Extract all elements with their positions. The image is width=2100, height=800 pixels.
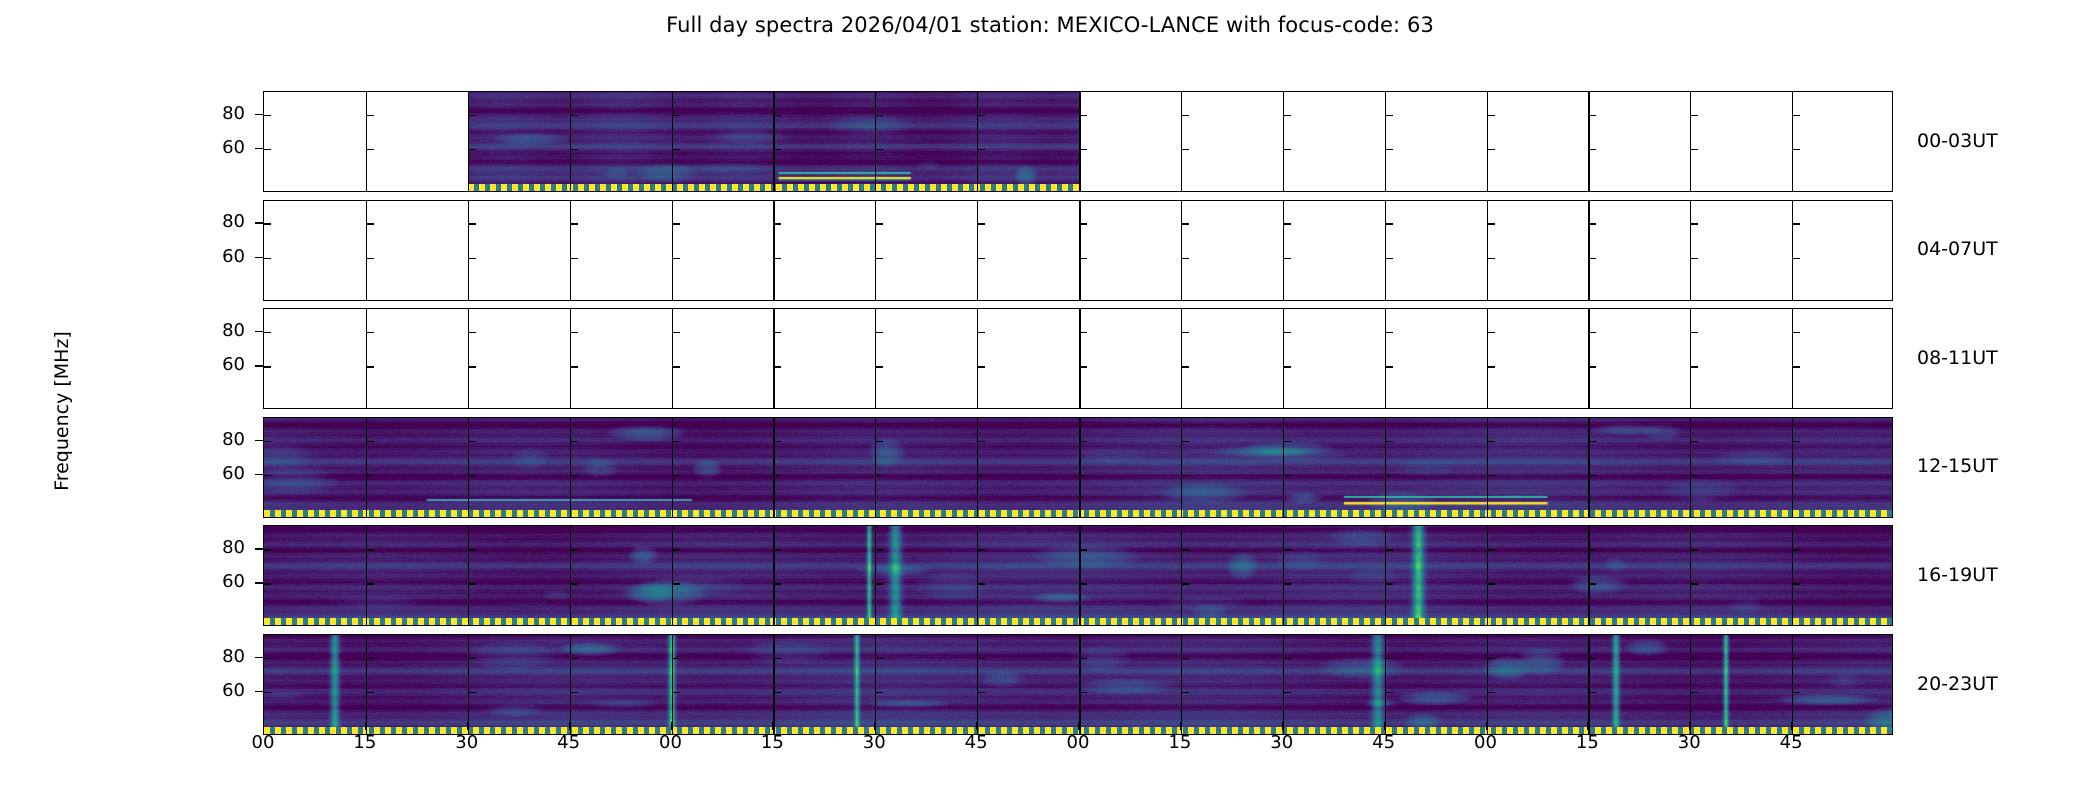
y-tick-mark (1488, 332, 1495, 333)
y-tick-mark (264, 258, 271, 259)
y-axis-tick-label: 80 (205, 646, 245, 667)
y-tick-mark (1691, 149, 1698, 150)
frequency-marker-strip (264, 510, 1893, 517)
y-tick-mark (1080, 223, 1087, 224)
y-tick-mark (1488, 149, 1495, 150)
subpanel-divider (366, 201, 367, 300)
y-tick-mark (1284, 366, 1291, 367)
y-tick-mark (876, 223, 883, 224)
subpanel-separators (264, 309, 1892, 408)
y-tick-mark (1793, 258, 1800, 259)
subpanel-divider (1181, 92, 1182, 191)
subpanel-divider (773, 309, 774, 408)
x-axis-tick (671, 722, 672, 730)
row-label-04-07ut: 04-07UT (1917, 238, 1998, 260)
y-tick-mark (673, 223, 680, 224)
x-axis-tick-label: 00 (1067, 732, 1090, 753)
spectrogram-row-16-19ut (263, 525, 1893, 626)
x-axis-tick (1587, 722, 1588, 730)
y-tick-mark (571, 223, 578, 224)
subpanel-divider (1079, 201, 1081, 300)
y-tick-mark (1793, 223, 1800, 224)
y-tick-mark (1284, 258, 1291, 259)
y-axis-tick (255, 365, 263, 366)
subpanel-divider (366, 309, 367, 408)
y-tick-mark (1589, 258, 1596, 259)
y-tick-mark (571, 366, 578, 367)
x-axis: 00153045001530450015304500153045 (263, 722, 1893, 762)
subpanel-divider (1588, 309, 1589, 408)
y-tick-mark (1488, 223, 1495, 224)
spectrogram-row-00-03ut (263, 91, 1893, 192)
y-axis-tick-label: 80 (205, 429, 245, 450)
subpanel-divider (1792, 309, 1793, 408)
subpanel-divider (1181, 309, 1182, 408)
y-tick-mark (264, 332, 271, 333)
y-tick-mark (367, 115, 374, 116)
y-tick-mark (1793, 332, 1800, 333)
subpanel-divider (1385, 92, 1386, 191)
y-tick-mark (367, 332, 374, 333)
y-tick-mark (469, 366, 476, 367)
subpanel-divider (1487, 201, 1489, 300)
y-tick-mark (571, 258, 578, 259)
y-axis-tick-label: 60 (205, 680, 245, 701)
subpanel-divider (366, 92, 367, 191)
y-tick-mark (673, 332, 680, 333)
x-axis-tick-label: 15 (761, 732, 784, 753)
y-tick-mark (1589, 366, 1596, 367)
y-axis-tick-label: 60 (205, 354, 245, 375)
spectrogram-row-12-15ut (263, 417, 1893, 518)
x-axis-tick (1078, 722, 1079, 730)
y-tick-mark (978, 223, 985, 224)
y-tick-mark (1589, 149, 1596, 150)
x-axis-tick-label: 45 (557, 732, 580, 753)
y-tick-mark (774, 223, 781, 224)
spectrogram-row-20-23ut (263, 634, 1893, 735)
subpanel-divider (773, 201, 774, 300)
spectrogram-image (264, 526, 1893, 626)
y-tick-mark (367, 223, 374, 224)
y-tick-mark (1793, 366, 1800, 367)
y-tick-mark (774, 366, 781, 367)
y-tick-mark (1386, 366, 1393, 367)
y-axis-tick (255, 691, 263, 692)
y-tick-mark (1284, 149, 1291, 150)
row-label-16-19ut: 16-19UT (1917, 564, 1998, 586)
subpanel-divider (1588, 92, 1589, 191)
subpanel-divider (1385, 201, 1386, 300)
y-axis-tick-label: 80 (205, 103, 245, 124)
subpanel-divider (1283, 309, 1284, 408)
x-axis-tick (1180, 722, 1181, 730)
y-tick-mark (978, 366, 985, 367)
subpanel-divider (875, 201, 876, 300)
y-axis-tick (255, 257, 263, 258)
y-tick-mark (1691, 115, 1698, 116)
subpanel-divider (977, 201, 978, 300)
y-tick-mark (673, 258, 680, 259)
subpanel-divider (1487, 92, 1489, 191)
y-axis-tick (255, 582, 263, 583)
row-label-08-11ut: 08-11UT (1917, 347, 1998, 369)
y-tick-mark (1691, 332, 1698, 333)
subpanel-divider (1487, 309, 1489, 408)
subpanel-divider (977, 309, 978, 408)
subpanel-divider (468, 309, 469, 408)
y-axis-tick-label: 60 (205, 571, 245, 592)
subpanel-divider (468, 201, 469, 300)
y-tick-mark (774, 258, 781, 259)
y-axis-tick (255, 548, 263, 549)
y-tick-mark (367, 149, 374, 150)
x-axis-tick-label: 45 (1372, 732, 1395, 753)
x-axis-tick (263, 722, 264, 730)
y-tick-mark (774, 332, 781, 333)
page-title: Full day spectra 2026/04/01 station: MEX… (0, 13, 2100, 37)
subpanel-divider (672, 309, 674, 408)
y-tick-mark (1182, 115, 1189, 116)
subpanel-divider (1079, 92, 1081, 191)
y-tick-mark (1284, 115, 1291, 116)
x-axis-tick (772, 722, 773, 730)
y-tick-mark (1488, 258, 1495, 259)
x-axis-tick-label: 00 (659, 732, 682, 753)
y-axis-tick-label: 60 (205, 137, 245, 158)
frequency-marker-strip (264, 618, 1893, 625)
x-axis-tick-label: 45 (1780, 732, 1803, 753)
y-tick-mark (1793, 115, 1800, 116)
spectrogram-image (264, 635, 1893, 735)
y-tick-mark (1691, 223, 1698, 224)
x-axis-tick-label: 30 (1270, 732, 1293, 753)
y-tick-mark (876, 366, 883, 367)
y-axis-tick (255, 222, 263, 223)
y-tick-mark (264, 366, 271, 367)
x-axis-tick (1486, 722, 1487, 730)
y-tick-mark (1080, 258, 1087, 259)
subpanel-divider (875, 309, 876, 408)
y-axis-tick (255, 657, 263, 658)
y-tick-mark (1589, 115, 1596, 116)
subpanel-divider (1385, 309, 1386, 408)
x-axis-tick (874, 722, 875, 730)
y-axis-tick-label: 80 (205, 320, 245, 341)
y-tick-mark (1080, 332, 1087, 333)
y-tick-mark (264, 149, 271, 150)
y-axis-tick-label: 80 (205, 211, 245, 232)
subpanel-divider (1690, 92, 1691, 191)
subpanel-divider (1690, 309, 1691, 408)
y-tick-mark (1386, 258, 1393, 259)
y-tick-mark (673, 366, 680, 367)
y-axis-tick (255, 148, 263, 149)
frequency-marker-strip (468, 184, 1079, 191)
subpanel-divider (1792, 92, 1793, 191)
row-label-00-03ut: 00-03UT (1917, 130, 1998, 152)
y-axis-tick (255, 331, 263, 332)
y-axis-tick-label: 60 (205, 246, 245, 267)
x-axis-tick-label: 30 (863, 732, 886, 753)
y-axis-tick-label: 60 (205, 463, 245, 484)
subpanel-divider (1792, 201, 1793, 300)
y-tick-mark (469, 258, 476, 259)
y-tick-mark (469, 223, 476, 224)
x-axis-tick-label: 30 (1678, 732, 1701, 753)
x-axis-tick (365, 722, 366, 730)
y-tick-mark (1182, 332, 1189, 333)
y-tick-mark (978, 332, 985, 333)
subpanel-divider (570, 201, 571, 300)
y-tick-mark (876, 332, 883, 333)
y-tick-mark (367, 366, 374, 367)
y-tick-mark (1080, 149, 1087, 150)
subpanel-divider (570, 309, 571, 408)
spectrogram-row-04-07ut (263, 200, 1893, 301)
x-axis-tick (1689, 722, 1690, 730)
y-tick-mark (1284, 332, 1291, 333)
row-label-12-15ut: 12-15UT (1917, 455, 1998, 477)
y-axis-tick-label: 80 (205, 537, 245, 558)
x-axis-tick (1791, 722, 1792, 730)
spectrogram-row-08-11ut (263, 308, 1893, 409)
y-tick-mark (469, 332, 476, 333)
spectrogram-image (468, 92, 1079, 192)
y-tick-mark (1284, 223, 1291, 224)
x-axis-tick-label: 00 (252, 732, 275, 753)
y-axis-tick (255, 114, 263, 115)
y-tick-mark (876, 258, 883, 259)
x-axis-tick (976, 722, 977, 730)
subpanel-divider (1079, 309, 1081, 408)
x-axis-tick-label: 30 (455, 732, 478, 753)
x-axis-tick-label: 15 (1576, 732, 1599, 753)
subpanel-divider (1690, 201, 1691, 300)
y-axis-tick (255, 440, 263, 441)
y-tick-mark (1182, 223, 1189, 224)
subpanel-divider (1588, 201, 1589, 300)
y-tick-mark (1080, 366, 1087, 367)
y-tick-mark (1182, 366, 1189, 367)
x-axis-tick (1282, 722, 1283, 730)
y-axis-label: Frequency [MHz] (51, 291, 73, 531)
subpanel-divider (1283, 92, 1284, 191)
y-tick-mark (1589, 223, 1596, 224)
y-tick-mark (1488, 366, 1495, 367)
x-axis-tick-label: 00 (1474, 732, 1497, 753)
x-axis-tick-label: 15 (1168, 732, 1191, 753)
y-tick-mark (1589, 332, 1596, 333)
x-axis-tick-label: 15 (353, 732, 376, 753)
y-tick-mark (1793, 149, 1800, 150)
y-tick-mark (264, 223, 271, 224)
x-axis-tick (467, 722, 468, 730)
y-tick-mark (1386, 115, 1393, 116)
spectrogram-image (264, 418, 1893, 518)
y-tick-mark (367, 258, 374, 259)
y-tick-mark (1691, 258, 1698, 259)
subpanel-divider (672, 201, 674, 300)
y-axis-tick (255, 474, 263, 475)
y-tick-mark (1182, 258, 1189, 259)
y-tick-mark (978, 258, 985, 259)
y-tick-mark (1691, 366, 1698, 367)
row-label-20-23ut: 20-23UT (1917, 673, 1998, 695)
y-tick-mark (571, 332, 578, 333)
y-tick-mark (264, 115, 271, 116)
y-tick-mark (1386, 149, 1393, 150)
y-tick-mark (1080, 115, 1087, 116)
y-tick-mark (1488, 115, 1495, 116)
y-tick-mark (1386, 223, 1393, 224)
subpanel-divider (1283, 201, 1284, 300)
x-axis-tick-label: 45 (965, 732, 988, 753)
subpanel-separators (264, 201, 1892, 300)
subpanel-divider (1181, 201, 1182, 300)
x-axis-tick (569, 722, 570, 730)
y-tick-mark (1182, 149, 1189, 150)
y-tick-mark (1386, 332, 1393, 333)
x-axis-tick (1384, 722, 1385, 730)
